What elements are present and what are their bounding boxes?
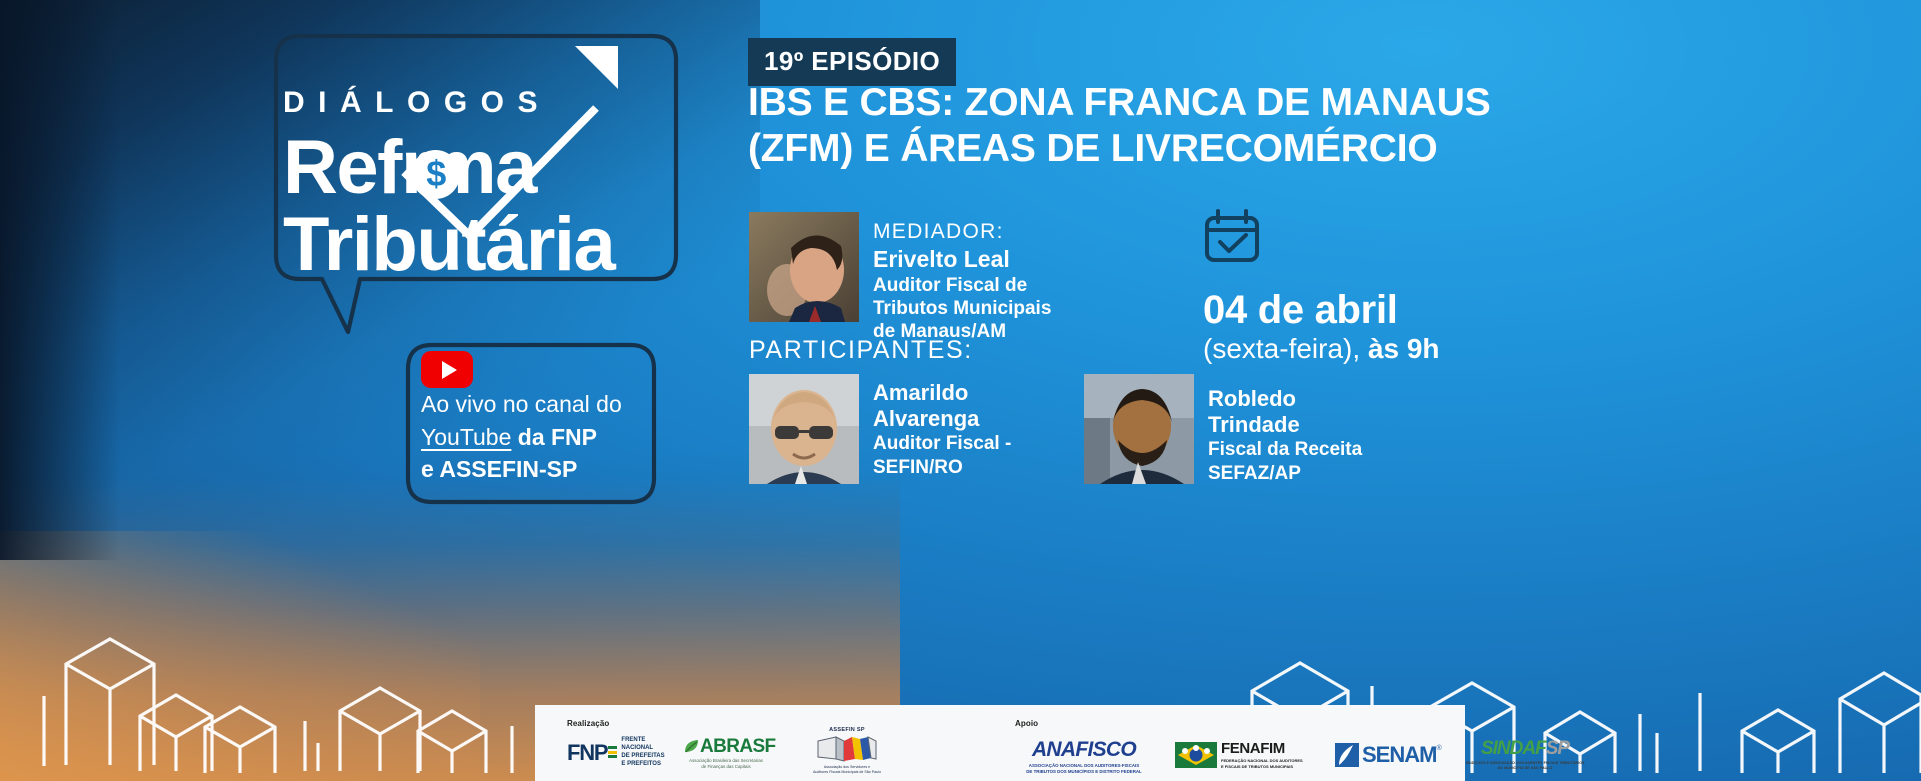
youtube-line-1: Ao vivo no canal do: [421, 388, 681, 421]
participant-portrait-2-image: [1084, 374, 1194, 484]
mediator-portrait-image: [749, 212, 859, 322]
participant-2-role-1: Fiscal da Receita: [1208, 439, 1423, 461]
assefin-sub-1: Associação dos Servidores e: [824, 765, 870, 769]
logo-anafisco: ANAFISCO ASSOCIAÇÃO NACIONAL DOS AUDITOR…: [1015, 739, 1153, 775]
fnp-line-3: DE PREFEITAS: [621, 753, 664, 759]
participant-card-2: Robledo Trindade Fiscal da Receita SEFAZ…: [1084, 374, 1194, 484]
fenafim-mark: FENAFIM: [1221, 741, 1303, 756]
event-weekday-time: (sexta-feira), às 9h: [1203, 333, 1533, 364]
logo-fnp: FNP FRENTE NACIONAL DE PREFEITAS E PREFE…: [567, 737, 665, 769]
brand-lockup: DIÁLOGOS Refrma $ Tributária: [283, 88, 703, 283]
sponsor-logo-bar: Realização Apoio FNP FRENTE NACIONAL DE …: [535, 705, 1465, 781]
participant-info-1: Amarildo Alvarenga Auditor Fiscal - SEFI…: [873, 380, 1088, 479]
brand-title-line1: Refrma $: [283, 132, 703, 203]
participant-1-role-2: SEFIN/RO: [873, 457, 1088, 479]
participant-2-name-line1: Robledo: [1208, 386, 1423, 412]
sindafsp-sub-2: DO MUNICÍPIO DE SÃO PAULO: [1498, 766, 1553, 770]
fenafim-sub-2: E FISCAIS DE TRIBUTOS MUNICIPAIS: [1221, 764, 1293, 769]
sindafsp-subtitle: SINDICATO E ASSOCIAÇÃO DOS AGENTES FISCA…: [1466, 761, 1585, 772]
abrasf-sub-2: de Finanças das Capitais: [701, 764, 750, 769]
promo-banner: DIÁLOGOS Refrma $ Tributária Ao vivo no …: [0, 0, 1921, 781]
youtube-callout-text: Ao vivo no canal do YouTube da FNP e ASS…: [421, 388, 681, 486]
logo-assefin-sp: ASSEFIN SP Associação dos Servidores e A…: [803, 727, 891, 775]
abrasf-subtitle: Associação Brasileira das Secretarias de…: [683, 758, 769, 770]
participants-label: PARTICIPANTES:: [749, 336, 973, 365]
youtube-line-2: YouTube da FNP: [421, 421, 681, 454]
participant-1-role-1: Auditor Fiscal -: [873, 433, 1088, 455]
fenafim-sub-1: FEDERAÇÃO NACIONAL DOS AUDITORES: [1221, 758, 1303, 763]
dollar-coin-icon: $: [411, 150, 460, 199]
event-date-block: 04 de abril (sexta-feira), às 9h: [1203, 208, 1533, 365]
mediator-photo: [749, 212, 859, 322]
event-time: às 9h: [1368, 333, 1440, 364]
fnp-line-1: FRENTE: [621, 737, 645, 743]
participant-2-name-line2: Trindade: [1208, 412, 1423, 438]
brand-title-ref: Ref: [283, 125, 401, 210]
participant-portrait-1-image: [749, 374, 859, 484]
brand-kicker: DIÁLOGOS: [283, 88, 703, 118]
fenafim-emblem-icon: [1175, 742, 1217, 768]
mediator-name: Erivelto Leal: [873, 245, 1213, 274]
sindafsp-mark-b: SP: [1546, 739, 1569, 758]
senam-swoosh-icon: [1335, 743, 1359, 767]
youtube-link[interactable]: YouTube: [421, 424, 511, 450]
participant-2-role-2: SEFAZ/AP: [1208, 463, 1423, 485]
sindafsp-sub-1: SINDICATO E ASSOCIAÇÃO DOS AGENTES FISCA…: [1466, 761, 1585, 765]
logo-sindafsp: SINDAF SP SINDICATO E ASSOCIAÇÃO DOS AGE…: [1465, 739, 1585, 771]
anafisco-subtitle: ASSOCIAÇÃO NACIONAL DOS AUDITORES-FISCAI…: [1026, 763, 1141, 776]
mediator-role-1: Auditor Fiscal de: [873, 275, 1213, 297]
fnp-mark: FNP: [567, 742, 607, 764]
fenafim-subtitle: FEDERAÇÃO NACIONAL DOS AUDITORES E FISCA…: [1221, 758, 1303, 769]
abrasf-sub-1: Associação Brasileira das Secretarias: [689, 758, 763, 763]
calendar-check-icon: [1203, 208, 1261, 264]
abrasf-mark: ABRASF: [700, 737, 776, 756]
participant-photo-1: [749, 374, 859, 484]
logo-senam: SENAM ®: [1335, 743, 1442, 767]
youtube-line-3-text: e ASSEFIN-SP: [421, 456, 577, 482]
participant-1-name-line2: Alvarenga: [873, 406, 1088, 432]
fnp-line-2: NACIONAL: [621, 745, 653, 751]
participant-card-1: Amarildo Alvarenga Auditor Fiscal - SEFI…: [749, 374, 859, 484]
assefin-sub-2: Auditores Fiscais Municipais de São Paul…: [813, 770, 881, 774]
youtube-play-icon[interactable]: [421, 351, 473, 388]
logo-fenafim: FENAFIM FEDERAÇÃO NACIONAL DOS AUDITORES…: [1175, 741, 1303, 769]
senam-registered-mark: ®: [1436, 745, 1441, 752]
participant-info-2: Robledo Trindade Fiscal da Receita SEFAZ…: [1208, 386, 1423, 485]
mediator-card: MEDIADOR: Erivelto Leal Auditor Fiscal d…: [749, 212, 859, 322]
brand-title-line2: Tributária: [283, 207, 703, 283]
event-weekday: (sexta-feira),: [1203, 333, 1368, 364]
participant-1-name-line1: Amarildo: [873, 380, 1088, 406]
fnp-flag-bars: [608, 746, 617, 759]
participant-photo-2: [1084, 374, 1194, 484]
episode-title: IBS E CBS: ZONA FRANCA DE MANAUS (ZFM) E…: [748, 80, 1508, 173]
youtube-line-3: e ASSEFIN-SP: [421, 453, 681, 486]
dollar-symbol: $: [426, 156, 445, 192]
sindafsp-mark-a: SINDAF: [1481, 739, 1546, 758]
mediator-label: MEDIADOR:: [873, 220, 1213, 244]
fnp-wordmark: FRENTE NACIONAL DE PREFEITAS E PREFEITOS: [621, 737, 664, 769]
mediator-info: MEDIADOR: Erivelto Leal Auditor Fiscal d…: [873, 220, 1213, 344]
senam-mark: SENAM: [1362, 744, 1436, 766]
episode-badge: 19º EPISÓDIO: [748, 38, 956, 86]
event-details: 19º EPISÓDIO IBS E CBS: ZONA FRANCA DE M…: [748, 0, 1921, 781]
anafisco-sub-1: ASSOCIAÇÃO NACIONAL DOS AUDITORES-FISCAI…: [1029, 763, 1139, 768]
assefin-books-icon: [814, 733, 880, 763]
play-triangle-icon: [442, 361, 457, 379]
assefin-subtitle: Associação dos Servidores e Auditores Fi…: [813, 765, 881, 775]
abrasf-leaf-icon: [683, 738, 700, 755]
youtube-line-2-rest: da FNP: [511, 424, 597, 450]
realizacao-label: Realização: [567, 719, 609, 728]
mediator-role-2: Tributos Municipais: [873, 298, 1213, 320]
anafisco-sub-2: DE TRIBUTOS DOS MUNICÍPIOS E DISTRITO FE…: [1026, 769, 1141, 774]
logo-abrasf: ABRASF Associação Brasileira das Secreta…: [683, 737, 776, 770]
apoio-label: Apoio: [1015, 719, 1038, 728]
anafisco-mark: ANAFISCO: [1032, 739, 1136, 760]
fnp-line-4: E PREFEITOS: [621, 761, 661, 767]
event-date: 04 de abril: [1203, 289, 1533, 331]
